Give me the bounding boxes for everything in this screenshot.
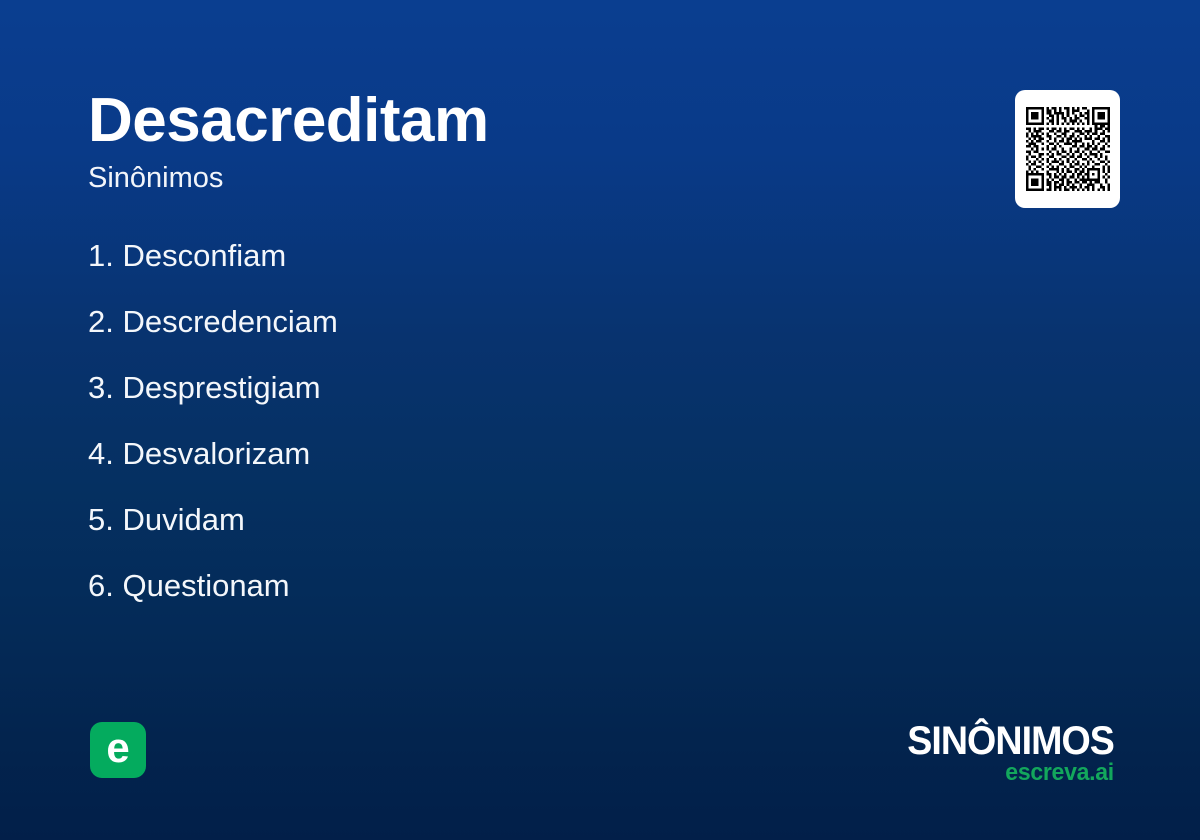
list-item-word: Questionam <box>122 568 289 603</box>
list-item-number: 4. <box>88 436 114 471</box>
brand-wordmark: SINÔNIMOS escreva.ai <box>894 720 1114 786</box>
list-item-word: Duvidam <box>122 502 244 537</box>
list-item: 1. Desconfiam <box>88 236 848 276</box>
page-title: Desacreditam <box>88 86 788 156</box>
list-item: 2. Descredenciam <box>88 302 848 342</box>
list-item-number: 1. <box>88 238 114 273</box>
wordmark-sinonimos: SINÔNIMOS <box>907 720 1114 762</box>
list-item: 3. Desprestigiam <box>88 368 848 408</box>
list-item-word: Desconfiam <box>122 238 286 273</box>
list-item: 5. Duvidam <box>88 500 848 540</box>
synonyms-card: Desacreditam Sinônimos <box>0 0 1200 840</box>
qr-code-icon <box>1026 107 1110 191</box>
list-item-number: 3. <box>88 370 114 405</box>
escreva-e-logo-icon[interactable]: e <box>90 722 146 778</box>
list-item-number: 2. <box>88 304 114 339</box>
list-item-word: Desvalorizam <box>122 436 310 471</box>
wordmark-escreva-ai: escreva.ai <box>903 760 1114 786</box>
list-item: 6. Questionam <box>88 566 848 606</box>
synonyms-list: 1. Desconfiam 2. Descredenciam 3. Despre… <box>88 236 848 632</box>
list-item: 4. Desvalorizam <box>88 434 848 474</box>
qr-code[interactable] <box>1015 90 1120 208</box>
header: Desacreditam Sinônimos <box>88 86 788 196</box>
list-item-number: 5. <box>88 502 114 537</box>
page-subtitle: Sinônimos <box>88 160 788 196</box>
list-item-word: Descredenciam <box>122 304 337 339</box>
list-item-number: 6. <box>88 568 114 603</box>
escreva-logo-letter: e <box>106 727 129 769</box>
list-item-word: Desprestigiam <box>122 370 320 405</box>
